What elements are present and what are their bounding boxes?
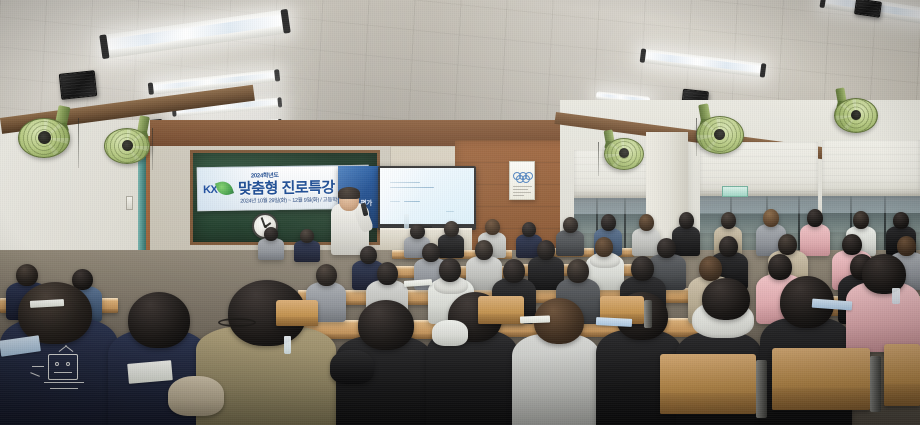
handout-paper[interactable] — [127, 360, 173, 384]
chair-post — [644, 300, 652, 328]
student-head — [702, 278, 750, 320]
student-head — [410, 224, 425, 239]
student-head — [842, 234, 862, 255]
ceiling-speaker — [59, 70, 98, 100]
classroom-photo: KX 2024학년도 맞춤형 진로특강 프로그램 2024년 10월 29일(화… — [0, 0, 920, 425]
presenter-hair — [338, 187, 360, 199]
wall-fan — [104, 112, 168, 170]
student-bag[interactable] — [168, 376, 224, 416]
chair-post — [870, 356, 881, 412]
student-head — [475, 240, 493, 260]
kx-logo: KX — [203, 180, 233, 200]
student-head — [264, 227, 278, 241]
chair-back[interactable] — [772, 348, 870, 410]
water-bottle — [404, 214, 409, 229]
student-head — [763, 209, 779, 227]
student-head — [595, 237, 613, 257]
student-torso — [258, 238, 284, 260]
light-switch[interactable] — [126, 196, 133, 210]
student-head — [422, 243, 440, 262]
student-head — [485, 219, 500, 235]
student-head — [358, 300, 414, 350]
water-bottle[interactable] — [284, 336, 291, 354]
student-head — [300, 229, 314, 243]
student-torso — [632, 228, 660, 256]
student-head — [377, 262, 398, 285]
student-head — [721, 212, 736, 229]
student-torso — [438, 234, 464, 258]
student-head — [18, 282, 92, 344]
student-head — [719, 236, 738, 257]
student-head — [439, 258, 461, 282]
student-head — [503, 259, 525, 283]
projection-screen — [378, 166, 476, 230]
olympic-rings-icon — [513, 172, 533, 182]
robot-print — [30, 348, 100, 404]
banner-subtitle-text: 2024년 10월 29일(화) ~ 12월 9일(화) / 고등학생 대상 — [240, 195, 352, 205]
student-head — [631, 256, 654, 281]
student-head — [16, 264, 38, 286]
chair-back[interactable] — [478, 296, 524, 324]
exit-sign — [722, 186, 748, 197]
student-torso — [672, 226, 700, 256]
projection-screen-surface — [380, 168, 474, 224]
student-head — [522, 222, 536, 237]
student-bag[interactable] — [330, 350, 374, 384]
window-blind[interactable] — [822, 140, 920, 196]
wall-fan — [586, 126, 644, 178]
student-torso — [512, 334, 600, 425]
student-head — [778, 234, 797, 255]
student-head — [601, 214, 616, 231]
student-head — [316, 264, 337, 286]
wall-fan — [678, 100, 744, 160]
student-head — [807, 209, 823, 227]
student-head — [444, 221, 459, 237]
student-torso — [556, 230, 584, 256]
green-leaf-icon — [215, 179, 234, 198]
student-head — [128, 292, 190, 348]
student-head — [639, 214, 654, 231]
student-bag[interactable] — [432, 320, 468, 346]
chair-post — [756, 360, 767, 418]
student-head — [360, 246, 377, 264]
student-head — [768, 254, 792, 280]
wall-fan — [818, 84, 878, 140]
eyeglasses-icon — [218, 318, 256, 327]
student-head — [897, 236, 916, 256]
student-head — [567, 259, 589, 283]
student-torso — [800, 224, 830, 256]
student-head — [657, 238, 676, 258]
student-head — [699, 256, 722, 281]
student-head — [893, 212, 909, 229]
student-head — [537, 240, 555, 260]
chair-back[interactable] — [884, 344, 920, 406]
student-head — [853, 211, 869, 229]
student-head — [679, 212, 694, 229]
wall-poster — [509, 161, 535, 200]
student-torso — [294, 240, 320, 262]
water-bottle[interactable] — [892, 288, 900, 304]
chair-back[interactable] — [276, 300, 318, 326]
handout-paper[interactable] — [520, 315, 550, 323]
chair-back[interactable] — [660, 354, 756, 414]
student-head — [563, 217, 578, 233]
